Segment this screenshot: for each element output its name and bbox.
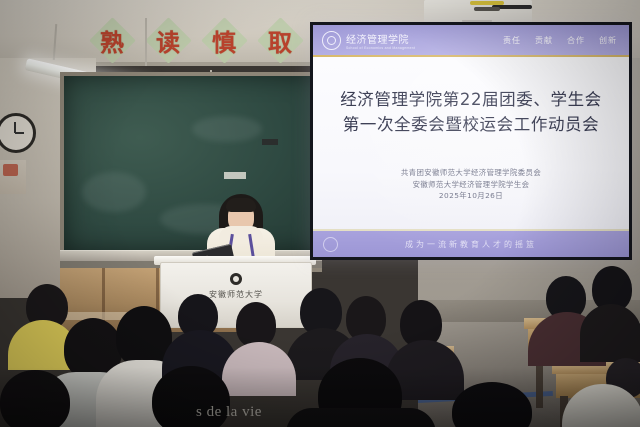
slide-footer-bar: 成为一流新教育人才的摇篮 [313, 229, 629, 257]
slide-logo-en: School of Economics and Management [346, 46, 415, 50]
board-note [224, 172, 246, 179]
slide-logo-cn: 经济管理学院 [346, 31, 415, 46]
slide-subtitle-line-1: 共青团安徽师范大学经济管理学院委员会 [313, 167, 629, 179]
slogan-char-4: 取 [254, 18, 306, 62]
lamp-suspension-rod [145, 18, 147, 66]
slide-title: 经济管理学院第22届团委、学生会 第一次全委会暨校运会工作动员会 [313, 87, 629, 137]
motto-word-3: 合作 [567, 35, 585, 46]
university-emblem-icon [230, 273, 242, 285]
projector-cables [470, 0, 540, 12]
slide-motto-group: 责任 贡献 合作 创新 [503, 35, 617, 46]
school-logo-icon [322, 31, 341, 50]
audience-head [0, 370, 70, 427]
motto-word-1: 责任 [503, 35, 521, 46]
audience-shoulders [580, 304, 640, 362]
slogan-char-2: 读 [142, 18, 194, 62]
podium-label: 安徽师范大学 [161, 289, 311, 300]
footer-logo-icon [323, 237, 338, 252]
speaker-hood [219, 226, 263, 242]
clothing-text: s de la vie [196, 404, 262, 421]
slide-logo: 经济管理学院 School of Economics and Managemen… [322, 31, 415, 50]
slogan-char-3: 慎 [198, 18, 250, 62]
slide-date: 2025年10月26日 [313, 190, 629, 202]
speaker-fringe [226, 198, 256, 212]
wall-slogan-banner: 熟 读 慎 取 [86, 18, 306, 62]
slogan-tile: 慎 [198, 18, 250, 62]
motto-word-2: 贡献 [535, 35, 553, 46]
slogan-tile: 熟 [86, 18, 138, 62]
slide-subtitle: 共青团安徽师范大学经济管理学院委员会 安徽师范大学经济管理学院学生会 2025年… [313, 167, 629, 202]
slogan-tile: 取 [254, 18, 306, 62]
slide-title-line-2: 第一次全委会暨校运会工作动员会 [313, 112, 629, 137]
green-chalkboard [64, 76, 318, 252]
slide-title-line-1: 经济管理学院第22届团委、学生会 [313, 87, 629, 112]
board-note [262, 139, 278, 145]
slide-subtitle-line-2: 安徽师范大学经济管理学院学生会 [313, 179, 629, 191]
slogan-tile: 读 [142, 18, 194, 62]
slogan-char-1: 熟 [86, 18, 138, 62]
slide-footer-text: 成为一流新教育人才的摇篮 [405, 239, 537, 250]
wall-poster [0, 160, 26, 194]
classroom-photo: 熟 读 慎 取 [0, 0, 640, 427]
audience-shoulders [286, 408, 436, 427]
slide-header-bar: 经济管理学院 School of Economics and Managemen… [313, 25, 629, 57]
motto-word-4: 创新 [599, 35, 617, 46]
presentation-slide: 经济管理学院 School of Economics and Managemen… [313, 25, 629, 257]
